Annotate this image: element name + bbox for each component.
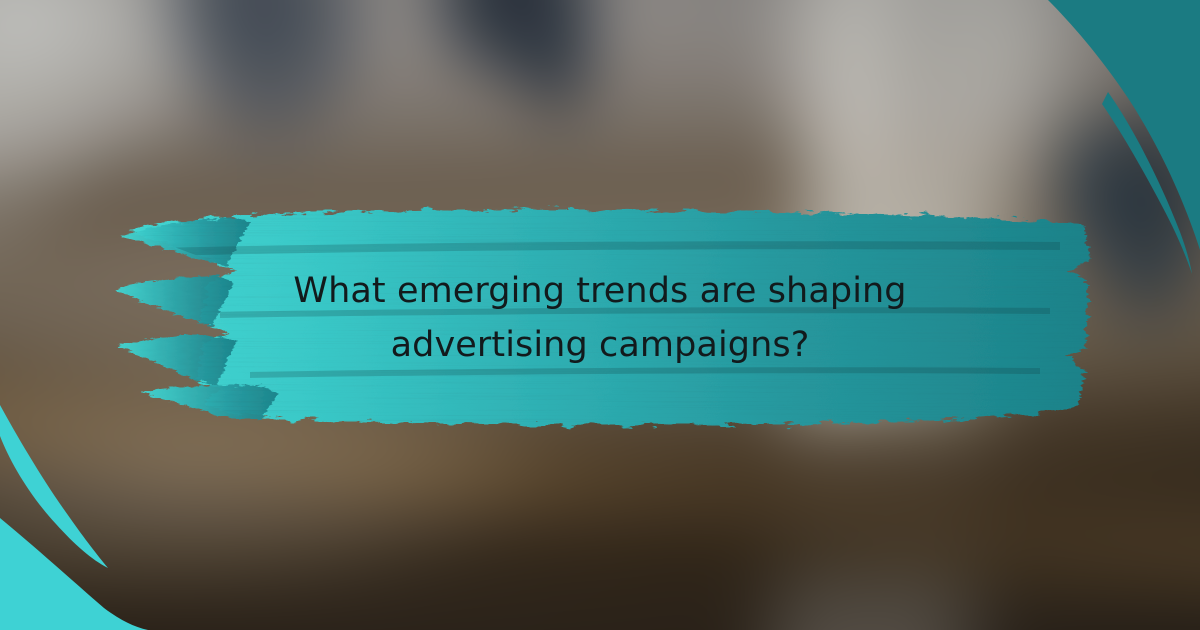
headline-line-2: advertising campaigns? (391, 322, 810, 368)
headline-line-1: What emerging trends are shaping (293, 268, 906, 314)
headline-text-block: What emerging trends are shaping adverti… (100, 196, 1100, 440)
share-card-canvas: What emerging trends are shaping adverti… (0, 0, 1200, 630)
